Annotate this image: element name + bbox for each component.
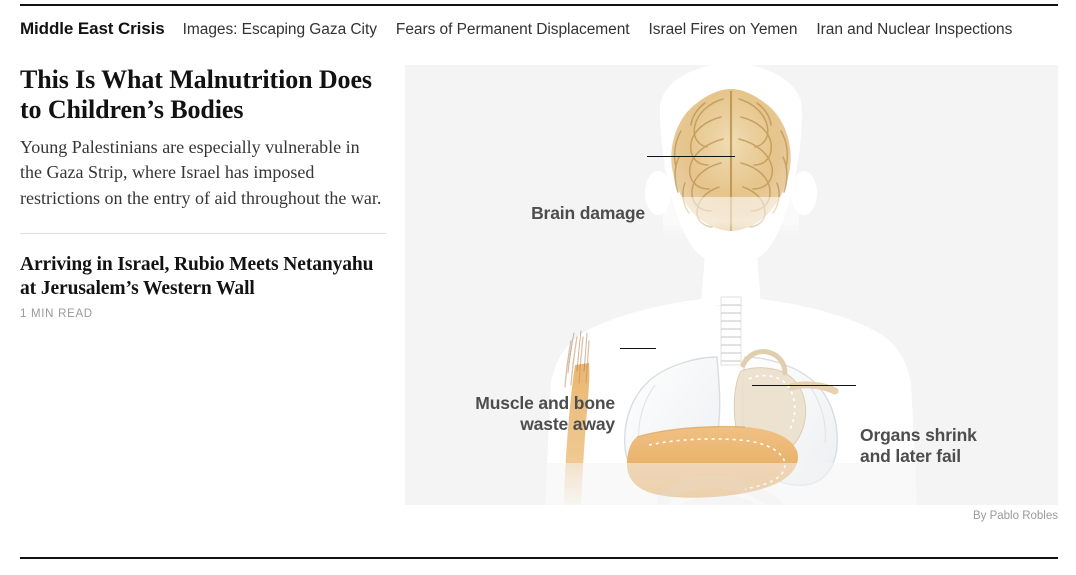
- story-divider: [20, 233, 386, 234]
- callout-organs-shrink: Organs shrink and later fail: [860, 425, 1050, 468]
- nav-item-images-escaping-gaza-city[interactable]: Images: Escaping Gaza City: [183, 21, 377, 39]
- nav-item-fears-of-permanent-displacement[interactable]: Fears of Permanent Displacement: [396, 21, 630, 39]
- figure-credit: By Pablo Robles: [405, 510, 1058, 522]
- trachea: [721, 297, 741, 365]
- leader-line-brain: [647, 156, 735, 157]
- figure-panel: Brain damage Muscle and bone waste away …: [405, 65, 1058, 505]
- bottom-divider: [20, 557, 1058, 559]
- secondary-story: Arriving in Israel, Rubio Meets Netanyah…: [20, 253, 386, 320]
- nav-primary-topic[interactable]: Middle East Crisis: [20, 19, 165, 39]
- leader-line-muscle: [620, 348, 656, 349]
- lede-summary: Young Palestinians are especially vulner…: [20, 135, 386, 212]
- top-divider: [20, 4, 1058, 6]
- callout-brain-damage: Brain damage: [515, 203, 645, 224]
- leader-line-organs: [752, 385, 856, 386]
- secondary-story-read-time: 1 MIN READ: [20, 308, 386, 320]
- callout-muscle-and-bone: Muscle and bone waste away: [435, 393, 615, 436]
- nav-item-israel-fires-on-yemen[interactable]: Israel Fires on Yemen: [649, 21, 798, 39]
- story-column: This Is What Malnutrition Does to Childr…: [20, 65, 386, 320]
- article-page: Middle East Crisis Images: Escaping Gaza…: [0, 0, 1076, 575]
- topic-nav: Middle East Crisis Images: Escaping Gaza…: [20, 19, 1060, 45]
- anatomy-figure[interactable]: Brain damage Muscle and bone waste away …: [405, 65, 1058, 505]
- nav-item-iran-and-nuclear-inspections[interactable]: Iran and Nuclear Inspections: [816, 21, 1012, 39]
- lede-headline[interactable]: This Is What Malnutrition Does to Childr…: [20, 65, 386, 126]
- secondary-story-headline[interactable]: Arriving in Israel, Rubio Meets Netanyah…: [20, 253, 386, 301]
